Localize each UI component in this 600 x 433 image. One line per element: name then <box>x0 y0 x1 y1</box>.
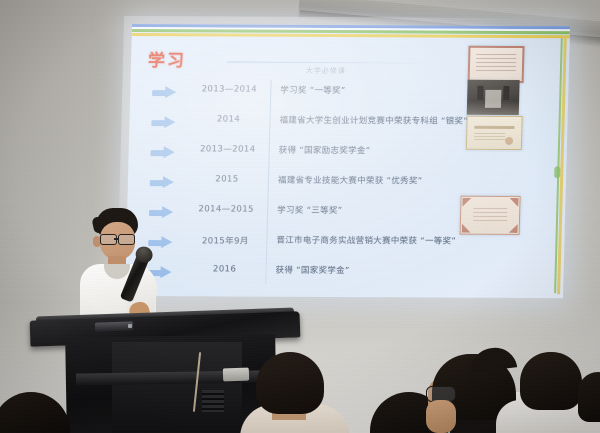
lectern-indicator-led <box>128 324 132 328</box>
lectern-body <box>112 342 242 433</box>
certificate-thumbnail-middle <box>466 116 523 150</box>
slide-subheading: 大学必修课 <box>306 66 346 76</box>
glasses-icon <box>118 234 135 245</box>
item-text: 福建省大学生创业计划竞赛中荣获专科组 “银奖” <box>279 114 468 127</box>
item-date: 2013—2014 <box>191 144 265 154</box>
item-text: 学习奖 “三等奖” <box>277 204 343 216</box>
item-date: 2014 <box>191 114 265 124</box>
lectern-equipment-box <box>223 368 249 382</box>
item-date: 2016 <box>187 264 261 274</box>
arrow-right-icon <box>152 86 178 99</box>
presentation-scene-photo: 学习 大学必修课 2013—2014 学习奖 “一等奖” 2014 福建省大学生… <box>0 0 600 433</box>
arrow-right-icon <box>150 146 176 159</box>
certificate-thumbnail-bottom <box>460 196 521 235</box>
glasses-bridge <box>114 238 119 240</box>
slide-title: 学习 <box>148 46 187 71</box>
audience-member-hand <box>426 400 456 433</box>
title-underline <box>227 61 422 63</box>
arrow-right-icon <box>150 176 176 189</box>
item-text: 获得 “国家奖学金” <box>275 264 349 276</box>
item-date: 2015年9月 <box>188 234 262 246</box>
item-date: 2013—2014 <box>192 84 266 94</box>
arrow-right-icon <box>151 116 177 129</box>
item-text: 获得 “国家励志奖学金” <box>279 144 371 156</box>
lectern-equipment-rack <box>202 390 224 412</box>
item-date: 2015 <box>190 174 264 184</box>
award-ceremony-photo-thumbnail <box>467 80 520 115</box>
item-text: 学习奖 “一等奖” <box>280 84 346 96</box>
projection-screen: 学习 大学必修课 2013—2014 学习奖 “一等奖” 2014 福建省大学生… <box>125 24 570 298</box>
audience-member-head <box>578 372 600 422</box>
item-text: 晋江市电子商务实战营销大赛中荣获 “一等奖” <box>276 234 456 247</box>
item-text: 福建省专业技能大赛中荣获 “优秀奖” <box>278 174 423 187</box>
item-date: 2014—2015 <box>189 204 263 214</box>
slide-surface: 学习 大学必修课 2013—2014 学习奖 “一等奖” 2014 福建省大学生… <box>125 24 570 298</box>
certificate-thumbnail-top <box>468 46 525 83</box>
list-item: 2016 获得 “国家奖学金” <box>125 259 564 291</box>
audience-member-head <box>520 352 582 410</box>
audience-member-head <box>256 352 324 414</box>
